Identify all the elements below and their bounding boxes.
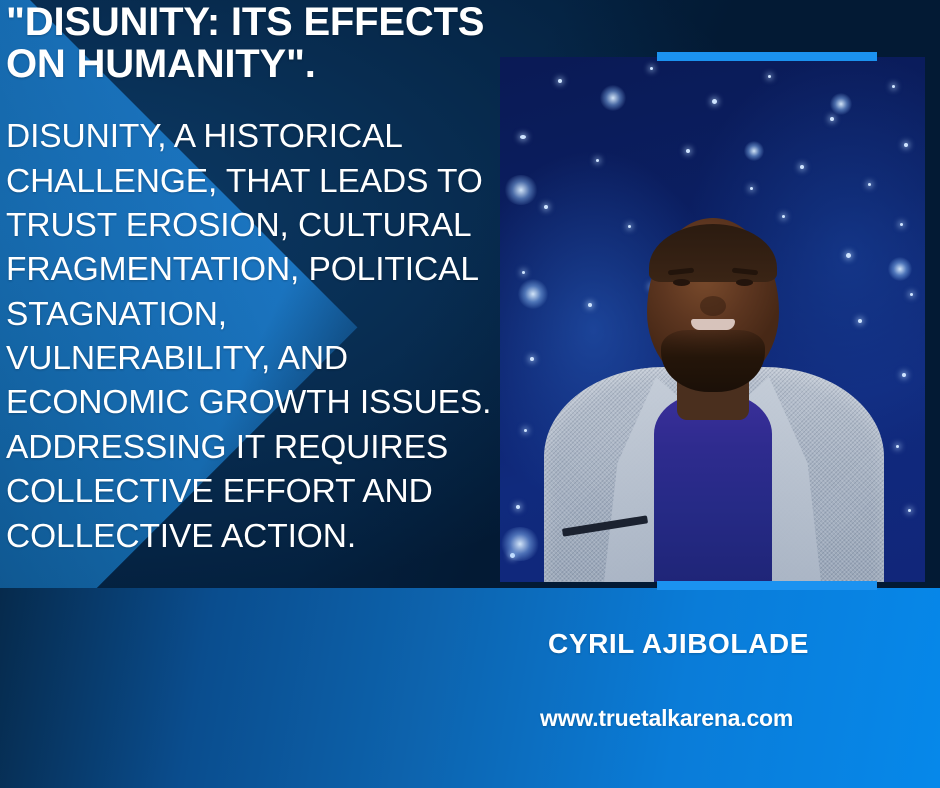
eye-left: [673, 279, 690, 286]
speaker-photo: [500, 57, 925, 582]
eye-right: [736, 279, 753, 286]
mouth: [691, 319, 735, 330]
body-paragraph: DISUNITY, A HISTORICAL CHALLENGE, THAT L…: [4, 85, 492, 559]
accent-bar-top: [657, 52, 877, 61]
accent-bar-bottom: [657, 581, 877, 590]
website-url: www.truetalkarena.com: [540, 705, 940, 732]
turtleneck-sweater: [654, 392, 772, 582]
nose: [700, 296, 726, 316]
text-column: "DISUNITY: ITS EFFECTS ON HUMANITY". DIS…: [0, 0, 500, 788]
speaker-figure: [500, 162, 925, 582]
quote-poster: "DISUNITY: ITS EFFECTS ON HUMANITY". DIS…: [0, 0, 940, 788]
page-title: "DISUNITY: ITS EFFECTS ON HUMANITY".: [4, 0, 492, 85]
speaker-name: CYRIL AJIBOLADE: [548, 628, 928, 660]
